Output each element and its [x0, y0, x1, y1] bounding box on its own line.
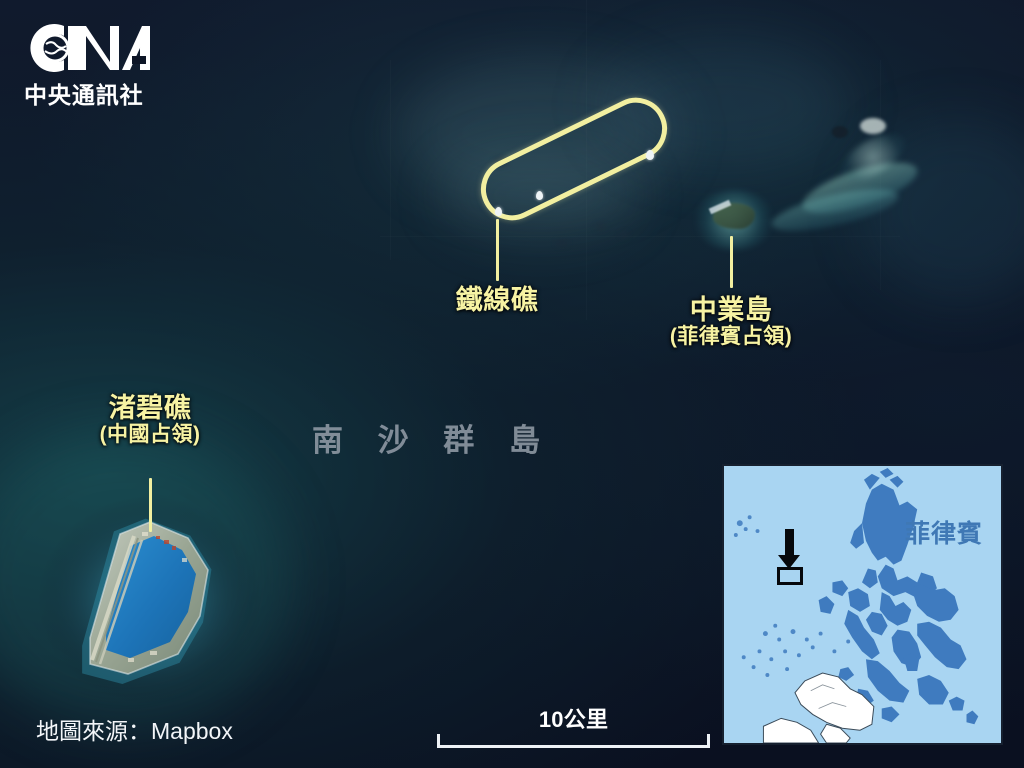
- inset-locator-map: 菲律賓: [722, 464, 1003, 745]
- tiexian-reef-leader-line: [496, 219, 499, 281]
- location-arrow-icon: [785, 529, 794, 557]
- label-spratly-archipelago: 南 沙 群 島: [312, 415, 553, 460]
- inset-map-geometry: [724, 466, 1001, 743]
- reef-patch: [832, 126, 848, 138]
- label-subi-reef-note: (中國占領): [100, 423, 201, 447]
- label-thitu-island: 中業島 (菲律賓占領): [670, 296, 792, 349]
- inset-country-label: 菲律賓: [905, 514, 983, 550]
- location-box-marker: [777, 567, 803, 585]
- infographic-map: 鐵線礁 中業島 (菲律賓占領) 渚碧礁 (中國占領) 南 沙 群 島 中央通訊社…: [0, 0, 1024, 768]
- reef-patch: [860, 118, 886, 134]
- map-tile-seam: [380, 236, 900, 237]
- subi-reef-leader-line: [149, 478, 152, 532]
- cna-logo: 中央通訊社: [24, 22, 164, 110]
- cna-logo-mark: [24, 22, 164, 74]
- map-tile-seam: [390, 60, 391, 260]
- label-tiexian-reef: 鐵線礁: [456, 286, 538, 315]
- thitu-island-leader-line: [730, 236, 733, 288]
- label-tiexian-reef-name: 鐵線礁: [456, 286, 538, 315]
- tiexian-reef-feature-dot: [536, 191, 543, 200]
- cna-logo-wordmark: 中央通訊社: [24, 76, 164, 110]
- map-attribution: 地圖來源：Mapbox: [36, 712, 233, 746]
- label-thitu-island-name: 中業島: [670, 296, 792, 325]
- label-thitu-island-note: (菲律賓占領): [670, 325, 792, 349]
- subi-reef-atoll: [30, 470, 280, 720]
- reef-speck: [556, 240, 568, 246]
- scale-bar-label: 10公里: [437, 702, 710, 734]
- tiexian-reef-feature-dot: [646, 150, 654, 160]
- scale-bar-graphic: [437, 734, 710, 748]
- label-subi-reef: 渚碧礁 (中國占領): [100, 394, 201, 447]
- reef-speck: [620, 232, 628, 237]
- tiexian-reef-feature-dot: [495, 207, 502, 216]
- reef-speck: [596, 224, 606, 230]
- label-subi-reef-name: 渚碧礁: [100, 394, 201, 423]
